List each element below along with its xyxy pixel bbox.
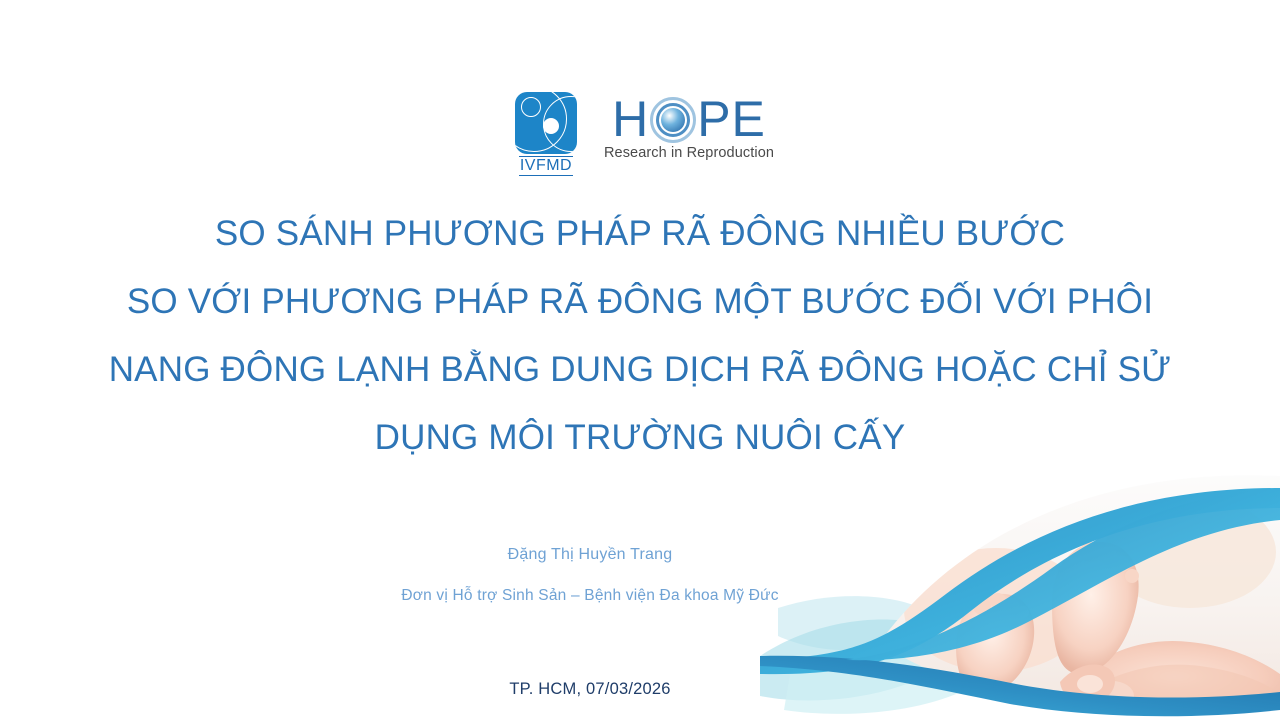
- hope-eye-icon: [650, 97, 696, 143]
- hope-tagline: Research in Reproduction: [604, 145, 774, 161]
- slide-title: SO SÁNH PHƯƠNG PHÁP RÃ ĐÔNG NHIỀU BƯỚC S…: [40, 200, 1240, 472]
- hope-eye-pupil-icon: [661, 108, 685, 132]
- hope-logo: H PE Research in Reproduction: [604, 96, 774, 161]
- hope-letter-h: H: [612, 96, 649, 144]
- ivfmd-mark-icon: [515, 92, 577, 154]
- ivfmd-logo: IVFMD: [506, 92, 586, 176]
- hope-logo-wordmark: H PE: [612, 96, 766, 144]
- ribbon-upper-arc-icon: [760, 488, 1280, 674]
- presenter-name: Đặng Thị Huyền Trang: [40, 546, 1140, 564]
- ivfmd-ring-small-icon: [521, 97, 541, 117]
- title-slide: IVFMD H PE Research in Reproduction SO S…: [0, 0, 1280, 720]
- location-date: TP. HCM, 07/03/2026: [40, 680, 1140, 699]
- title-line-2: SO VỚI PHƯƠNG PHÁP RÃ ĐÔNG MỘT BƯỚC ĐỐI …: [40, 268, 1240, 336]
- title-line-1: SO SÁNH PHƯƠNG PHÁP RÃ ĐÔNG NHIỀU BƯỚC: [40, 200, 1240, 268]
- ivfmd-dot-icon: [543, 118, 559, 134]
- hope-letters-pe: PE: [697, 96, 766, 144]
- title-line-4: DỤNG MÔI TRƯỜNG NUÔI CẤY: [40, 404, 1240, 472]
- title-line-3: NANG ĐÔNG LẠNH BẰNG DUNG DỊCH RÃ ĐÔNG HO…: [40, 336, 1240, 404]
- presenter-affiliation: Đơn vị Hỗ trợ Sinh Sản – Bệnh viện Đa kh…: [40, 587, 1140, 605]
- ivfmd-logo-text: IVFMD: [519, 156, 573, 176]
- ribbon-band-icon: [846, 488, 1280, 660]
- logo-row: IVFMD H PE Research in Reproduction: [0, 92, 1280, 176]
